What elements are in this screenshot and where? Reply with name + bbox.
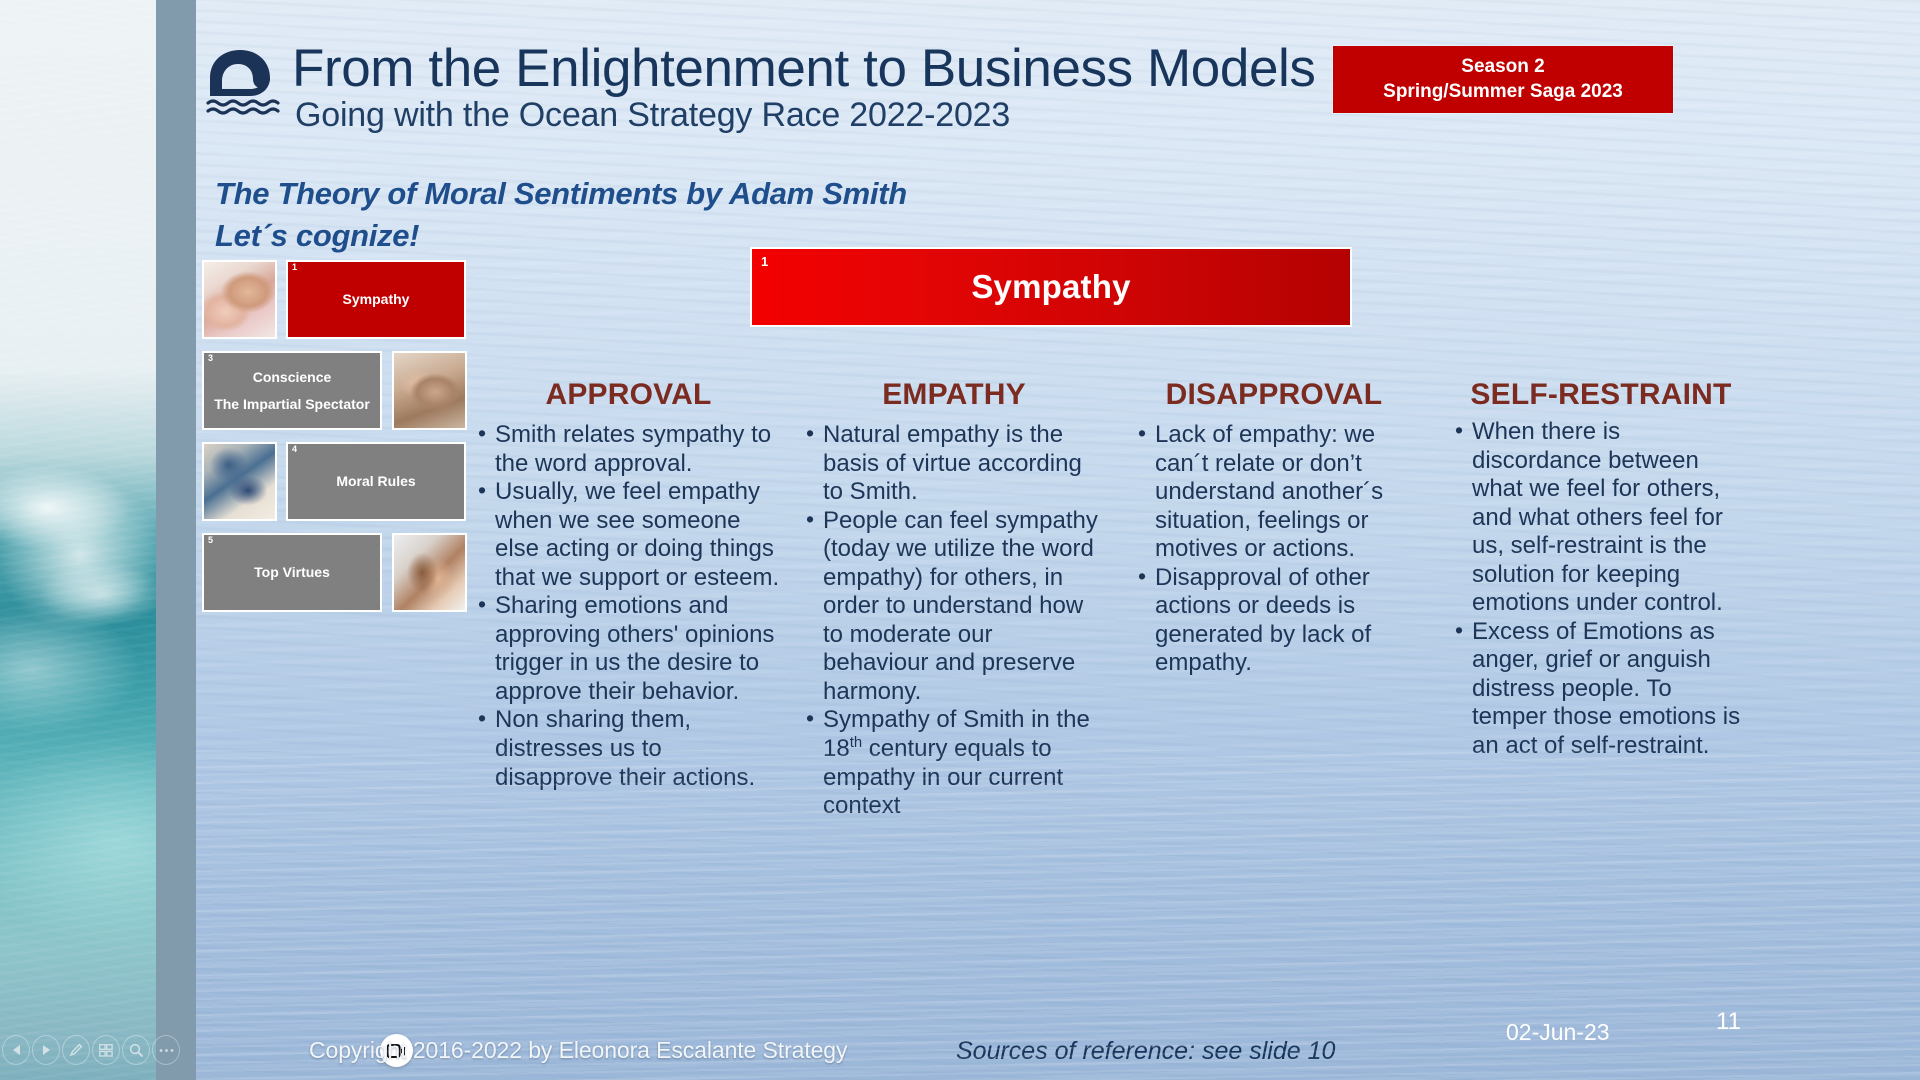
sidebar-item-top-virtues[interactable]: 5 Top Virtues: [202, 533, 382, 612]
season-badge-line2: Spring/Summer Saga 2023: [1383, 80, 1623, 104]
season-badge: Season 2 Spring/Summer Saga 2023: [1333, 46, 1673, 113]
bullet-list: When there is discordance between what w…: [1453, 418, 1749, 761]
zoom-button[interactable]: [122, 1035, 150, 1065]
translucent-overlay-band: [156, 0, 196, 1080]
slide-content-area: From the Enlightenment to Business Model…: [196, 0, 1920, 1080]
ocean-wave-logo-icon: [204, 48, 286, 120]
chapter-thumbnail-list: 1 Sympathy 3 Conscience The Impartial Sp…: [202, 260, 468, 624]
joined-hands-unity-photo: [392, 533, 467, 612]
sympathy-section-banner: 1 Sympathy: [750, 247, 1352, 327]
sources-text: Sources of reference: see slide 10: [956, 1037, 1335, 1066]
list-item: Non sharing them, distresses us to disap…: [476, 706, 781, 792]
presentation-slide: From the Enlightenment to Business Model…: [0, 0, 1920, 1080]
slide-number: 11: [1716, 1008, 1741, 1036]
list-item: Lack of empathy: we can´t relate or don’…: [1136, 421, 1412, 564]
concept-columns: APPROVAL Smith relates sympathy to the w…: [476, 378, 1916, 821]
list-item: Usually, we feel empathy when we see som…: [476, 478, 781, 592]
bullet-list: Smith relates sympathy to the word appro…: [476, 421, 781, 792]
slide-subtitle: Going with the Ocean Strategy Race 2022-…: [295, 98, 1010, 134]
sidebar-item-label: Top Virtues: [254, 559, 330, 586]
sidebar-item-sympathy[interactable]: 1 Sympathy: [286, 260, 466, 339]
column-approval: APPROVAL Smith relates sympathy to the w…: [476, 378, 781, 821]
next-slide-button[interactable]: [32, 1035, 60, 1065]
baby-feet-hands-photo: [392, 351, 467, 430]
ocean-wave-photo-strip: [0, 0, 156, 1080]
list-item[interactable]: 5 Top Virtues: [202, 533, 468, 612]
sidebar-item-number: 1: [292, 263, 297, 272]
column-title: DISAPPROVAL: [1136, 378, 1412, 412]
slide-header: From the Enlightenment to Business Model…: [196, 0, 1920, 160]
column-title: SELF-RESTRAINT: [1453, 378, 1749, 412]
elder-hands-photo: [202, 260, 277, 339]
sidebar-item-number: 4: [292, 445, 297, 454]
list-item: Sympathy of Smith in the 18th century eq…: [804, 706, 1104, 820]
sidebar-item-number: 3: [208, 354, 213, 363]
copyright-text: Copyright 2016-2022 by Eleonora Escalant…: [309, 1037, 847, 1064]
slide-date: 02-Jun-23: [1506, 1019, 1610, 1046]
column-title: EMPATHY: [804, 378, 1104, 412]
sidebar-item-conscience[interactable]: 3 Conscience The Impartial Spectator: [202, 351, 382, 430]
presenter-control-bar[interactable]: [0, 1030, 180, 1070]
bullet-list: Lack of empathy: we can´t relate or don’…: [1136, 421, 1412, 678]
theory-heading-line2: Let´s cognize!: [215, 218, 419, 254]
bullet-list: Natural empathy is the basis of virtue a…: [804, 421, 1104, 821]
column-disapproval: DISAPPROVAL Lack of empathy: we can´t re…: [1136, 378, 1412, 821]
sidebar-item-label: Sympathy: [343, 286, 410, 313]
list-item: When there is discordance between what w…: [1453, 418, 1749, 618]
banner-number: 1: [761, 255, 768, 268]
previous-slide-button[interactable]: [2, 1035, 30, 1065]
list-item[interactable]: 3 Conscience The Impartial Spectator: [202, 351, 468, 430]
sidebar-item-sublabel: The Impartial Spectator: [214, 391, 370, 418]
shopkeeper-payment-photo: [202, 442, 277, 521]
wave-crest-highlight: [0, 409, 156, 702]
list-item: Sharing emotions and approving others' o…: [476, 592, 781, 706]
list-item: Excess of Emotions as anger, grief or an…: [1453, 618, 1749, 761]
slide-title: From the Enlightenment to Business Model…: [292, 42, 1316, 95]
sidebar-item-number: 5: [208, 536, 213, 545]
column-empathy: EMPATHY Natural empathy is the basis of …: [804, 378, 1104, 821]
pen-tools-button[interactable]: [62, 1035, 90, 1065]
list-item: Natural empathy is the basis of virtue a…: [804, 421, 1104, 507]
list-item: People can feel sympathy (today we utili…: [804, 507, 1104, 707]
more-options-button[interactable]: [152, 1035, 180, 1065]
list-item[interactable]: 1 Sympathy: [202, 260, 468, 339]
sidebar-item-label: Conscience: [253, 364, 332, 391]
banner-title: Sympathy: [971, 268, 1130, 306]
sidebar-item-label: Moral Rules: [336, 468, 415, 495]
list-item: Disapproval of other actions or deeds is…: [1136, 564, 1412, 678]
sidebar-item-moral-rules[interactable]: 4 Moral Rules: [286, 442, 466, 521]
column-self-restraint: SELF-RESTRAINT When there is discordance…: [1453, 378, 1749, 821]
list-item[interactable]: 4 Moral Rules: [202, 442, 468, 521]
all-slides-button[interactable]: [92, 1035, 120, 1065]
column-title: APPROVAL: [476, 378, 781, 412]
list-item: Smith relates sympathy to the word appro…: [476, 421, 781, 478]
theory-heading-line1: The Theory of Moral Sentiments by Adam S…: [215, 176, 907, 212]
season-badge-line1: Season 2: [1461, 55, 1544, 79]
